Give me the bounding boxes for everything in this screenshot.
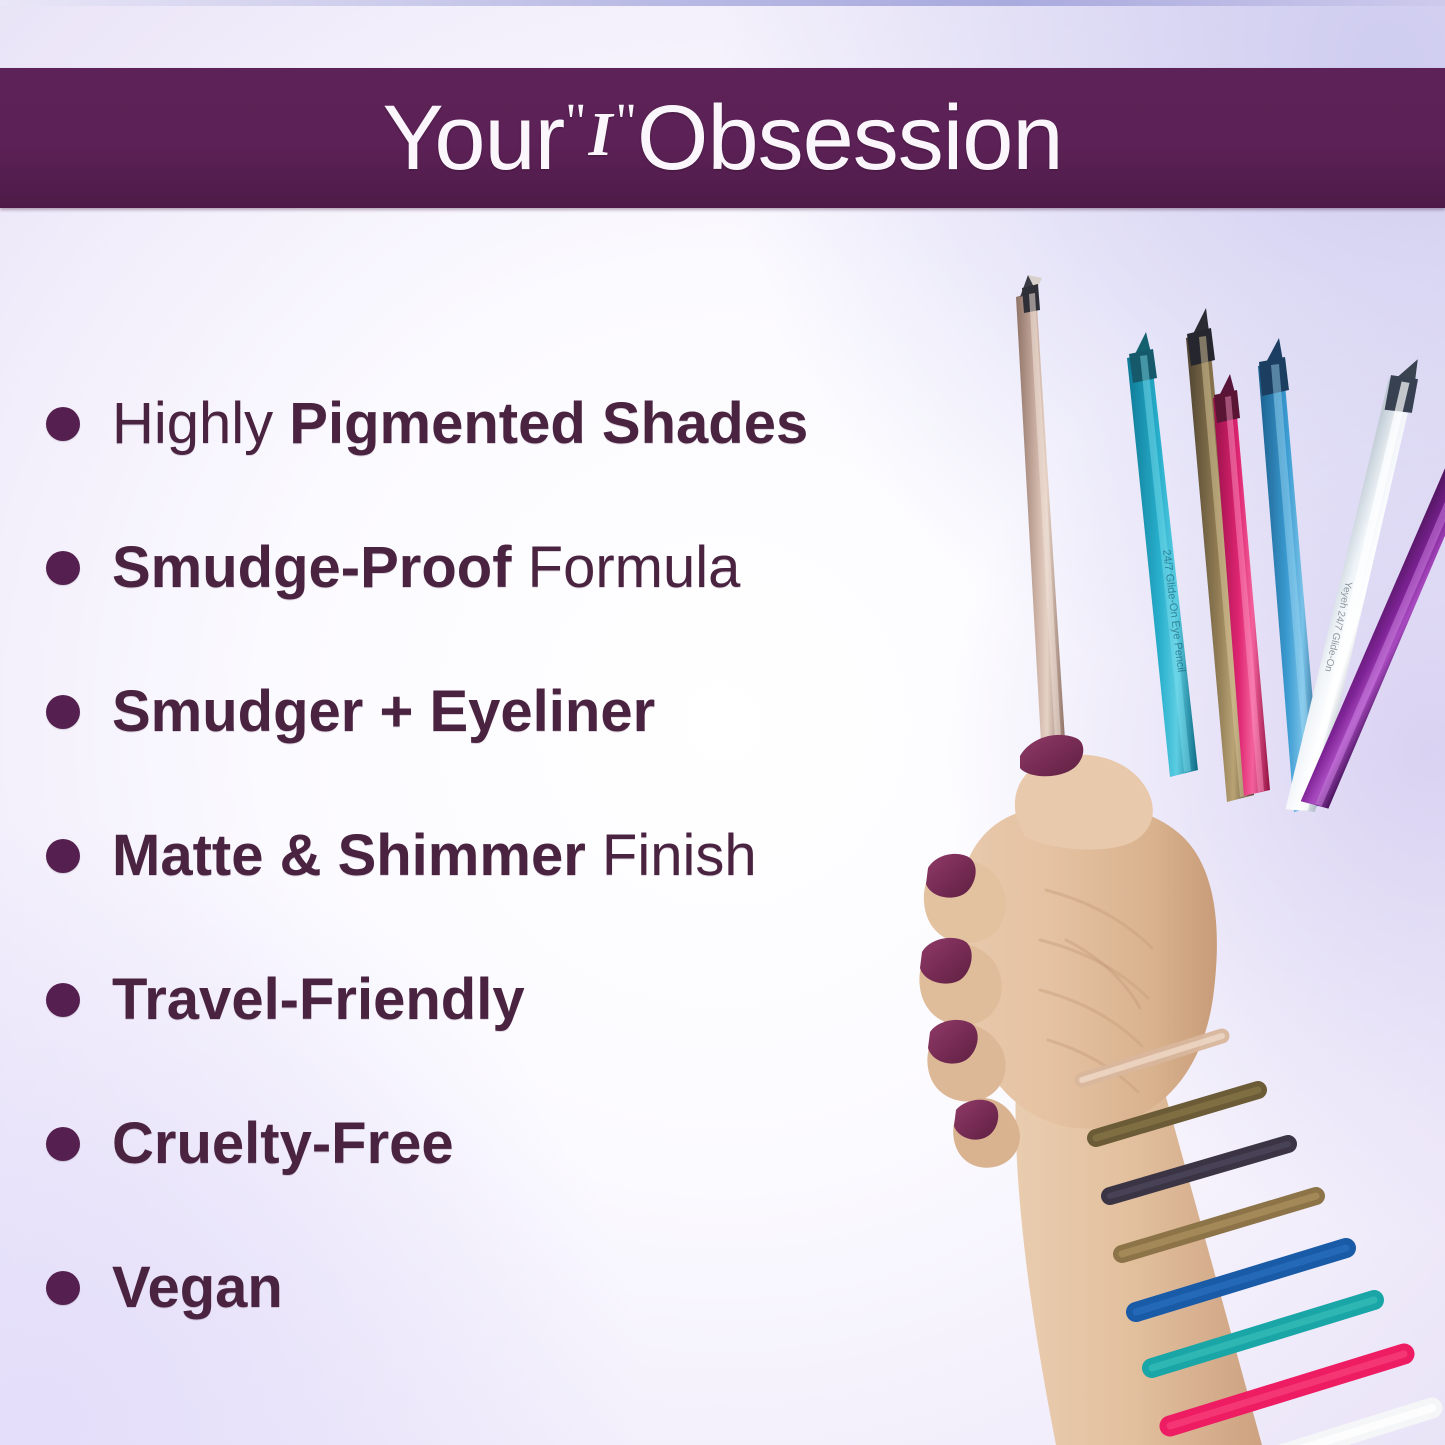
page-title: Your " I " Obsession (382, 92, 1062, 184)
feature-lead: Highly (112, 391, 289, 456)
navy-brown-swatch (1110, 1144, 1288, 1196)
teal-swatch (1152, 1300, 1374, 1368)
title-quote-open: " (565, 97, 585, 149)
feature-text: Cruelty-Free (112, 1114, 454, 1175)
list-item: Cruelty-Free (46, 1072, 966, 1216)
title-banner: Your " I " Obsession (0, 68, 1445, 208)
bullet-dot-icon (46, 983, 80, 1017)
bullet-dot-icon (46, 1127, 80, 1161)
list-item: Smudge-Proof Formula (46, 496, 966, 640)
feature-text: Smudge-Proof Formula (112, 538, 740, 599)
svg-text:Yeyeh 24/7 Glide-On: Yeyeh 24/7 Glide-On (1322, 580, 1354, 673)
pencil-cluster: 24/7 Glide-On Eye Pencil (1016, 275, 1445, 818)
feature-bold: Smudger + Eyeliner (112, 679, 655, 744)
purple-pencil (1278, 394, 1445, 814)
feature-bold: Pigmented Shades (289, 391, 808, 456)
rose-gold-pencil (1016, 275, 1066, 760)
list-item: Travel-Friendly (46, 928, 966, 1072)
list-item: Smudger + Eyeliner (46, 640, 966, 784)
swatch-set (1066, 362, 1445, 1445)
title-i-letter: I (589, 104, 613, 166)
list-item: Matte & Shimmer Finish (46, 784, 966, 928)
bullet-dot-icon (46, 551, 80, 585)
royal-blue-swatch (1136, 1248, 1346, 1312)
feature-text: Smudger + Eyeliner (112, 682, 655, 743)
bronze-pencil (1186, 308, 1254, 802)
feature-bold: Smudge-Proof (112, 535, 512, 600)
feature-bold: Cruelty-Free (112, 1111, 454, 1176)
gold-bronze-swatch (1122, 1196, 1316, 1254)
hand (919, 735, 1262, 1445)
feature-text: Vegan (112, 1258, 283, 1319)
bullet-dot-icon (46, 407, 80, 441)
feature-text: Matte & Shimmer Finish (112, 826, 757, 887)
bullet-dot-icon (46, 1271, 80, 1305)
title-quote-close: " (616, 97, 636, 149)
feature-bold: Matte & Shimmer (112, 823, 586, 888)
teal-pencil: 24/7 Glide-On Eye Pencil (1127, 332, 1198, 777)
hot-pink-swatch (1170, 1354, 1404, 1426)
feature-bold: Travel-Friendly (112, 967, 525, 1032)
list-item: Highly Pigmented Shades (46, 352, 966, 496)
blue-pencil (1258, 338, 1322, 812)
pink-pencil (1213, 374, 1270, 796)
bullet-dot-icon (46, 695, 80, 729)
white-swatch (1188, 1408, 1432, 1445)
feature-list: Highly Pigmented Shades Smudge-Proof For… (46, 352, 966, 1360)
rose-gold-glitter-swatch (1082, 1036, 1222, 1080)
dark-bronze-swatch (1096, 1090, 1258, 1138)
feature-text: Highly Pigmented Shades (112, 394, 808, 455)
svg-text:24/7 Glide-On Eye Pencil: 24/7 Glide-On Eye Pencil (1160, 549, 1187, 673)
feature-tail: Formula (512, 535, 741, 600)
list-item: Vegan (46, 1216, 966, 1360)
top-accent-strip (0, 0, 1445, 6)
feature-text: Travel-Friendly (112, 970, 525, 1031)
title-suffix: Obsession (637, 92, 1063, 184)
bullet-dot-icon (46, 839, 80, 873)
product-feature-poster: Your " I " Obsession Highly Pigmented Sh… (0, 0, 1445, 1445)
feature-bold: Vegan (112, 1255, 283, 1320)
feature-tail: Finish (586, 823, 757, 888)
white-pencil: Yeyeh 24/7 Glide-On (1260, 353, 1445, 818)
title-prefix: Your (382, 92, 564, 184)
